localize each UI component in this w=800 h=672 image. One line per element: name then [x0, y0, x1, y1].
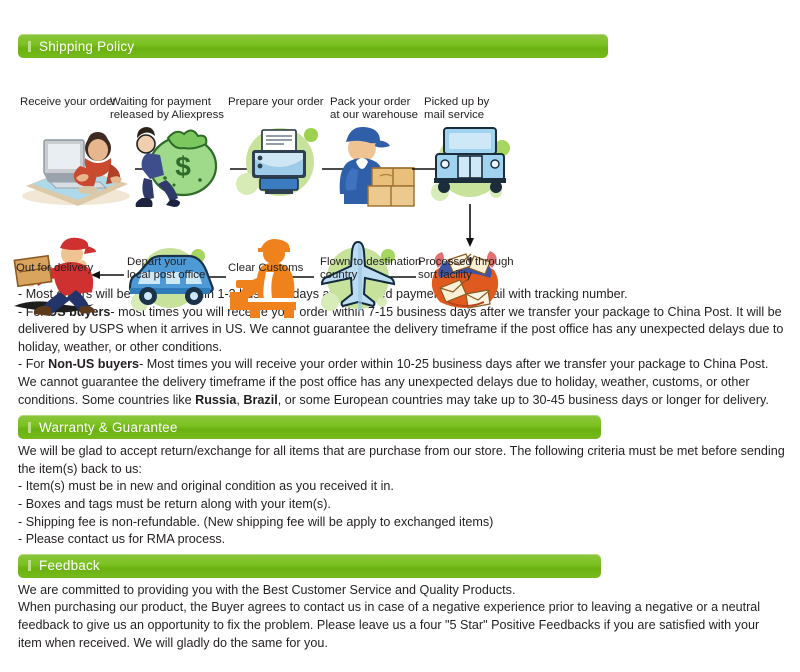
shipping-policy-document: Shipping Policy Receive your order Waiti… [0, 34, 800, 672]
shipping-line-3: - For Non-US buyers- Most times you will… [18, 356, 786, 409]
running-courier-icon [10, 232, 114, 320]
shipping-flowchart: Receive your order Waiting for payment r… [0, 64, 800, 282]
mail-truck-icon [418, 116, 522, 212]
flow-caption-out-for-delivery: Out for delivery [16, 262, 93, 275]
svg-text:$: $ [175, 151, 191, 182]
banner-tick-icon [28, 560, 31, 571]
banner-tick-icon [28, 422, 31, 433]
shipping-line-3-bold-russia: Russia [195, 393, 236, 407]
warranty-intro: We will be glad to accept return/exchang… [18, 443, 786, 478]
warranty-text: We will be glad to accept return/exchang… [0, 439, 800, 549]
customs-officer-icon [222, 236, 308, 318]
person-at-computer-icon [14, 120, 132, 210]
warehouse-worker-boxes-icon [330, 118, 418, 210]
section-title: Feedback [39, 558, 100, 573]
flow-caption-receive-order: Receive your order [20, 96, 116, 109]
flow-caption-flown-destination: Flown to destination country [320, 256, 421, 282]
flow-caption-sort-facility: Processed through sort facility [418, 256, 514, 282]
money-bag-icon: $ [128, 118, 234, 210]
shipping-line-3-a: - For [18, 357, 48, 371]
section-title: Shipping Policy [39, 39, 134, 54]
warranty-bullet-1: - Item(s) must be in new and original co… [18, 478, 786, 496]
feedback-line-2: When purchasing our product, the Buyer a… [18, 599, 786, 652]
section-title: Warranty & Guarantee [39, 420, 178, 435]
shipping-line-3-bold-brazil: Brazil [243, 393, 277, 407]
section-banner-warranty-guarantee: Warranty & Guarantee [18, 415, 601, 439]
printer-icon [232, 118, 328, 210]
section-banner-feedback: Feedback [18, 554, 601, 578]
section-banner-shipping-policy: Shipping Policy [18, 34, 608, 58]
shipping-line-3-bold-non-us-buyers: Non-US buyers [48, 357, 139, 371]
warranty-bullet-3: - Shipping fee is non-refundable. (New s… [18, 514, 786, 532]
feedback-line-1: We are committed to providing you with t… [18, 582, 786, 600]
flow-caption-clear-customs: Clear Customs [228, 262, 303, 275]
shipping-line-3-d: , or some European countries may take up… [278, 393, 769, 407]
flow-caption-depart-post-office: Depart your local post office [127, 256, 205, 282]
banner-tick-icon [28, 41, 31, 52]
flow-caption-prepare-order: Prepare your order [228, 96, 324, 109]
warranty-bullet-4: - Please contact us for RMA process. [18, 531, 786, 549]
warranty-bullet-2: - Boxes and tags must be return along wi… [18, 496, 786, 514]
feedback-text: We are committed to providing you with t… [0, 578, 800, 652]
